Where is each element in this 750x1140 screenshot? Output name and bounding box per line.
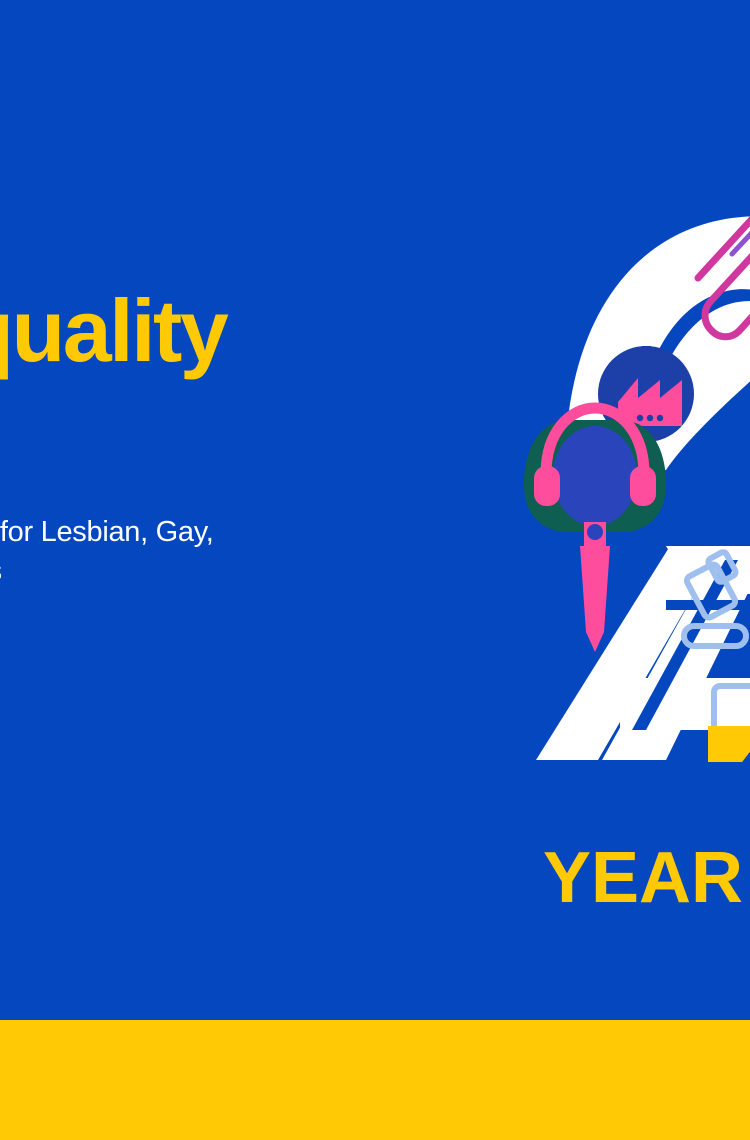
page-title: Equality (0, 288, 464, 373)
bottom-color-band (0, 1020, 750, 1140)
numeral-three-shape (536, 546, 750, 760)
headline-block: Equality 2 clusion for Lesbian, Gay, plo… (0, 288, 464, 590)
paperclip-icon (698, 198, 750, 337)
page-title-year: 2 (0, 373, 464, 463)
numeral-accent-stroke (642, 346, 651, 474)
poster-canvas: Equality 2 clusion for Lesbian, Gay, plo… (0, 0, 750, 1140)
factory-badge-icon (598, 346, 694, 442)
yellow-triangle-shape (708, 726, 750, 806)
paperclip-highlight (732, 196, 750, 266)
page-subtitle: clusion for Lesbian, Gay, ployees (0, 463, 464, 590)
person-headphones-icon (524, 408, 666, 652)
anniversary-illustration (470, 170, 750, 930)
anniversary-years-label: YEAR (543, 842, 743, 914)
numeral-two-shape (565, 216, 750, 470)
gavel-icon (684, 551, 746, 646)
document-icon (714, 686, 750, 778)
